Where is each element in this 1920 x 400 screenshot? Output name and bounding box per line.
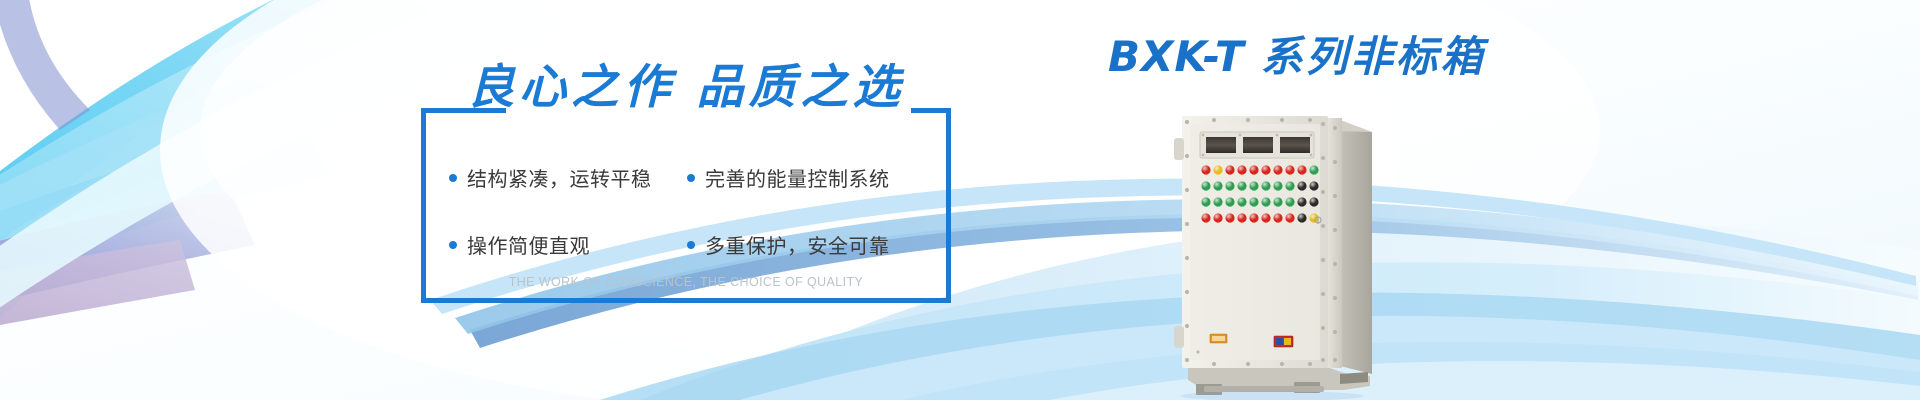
product-title: BXK-T系列非标箱: [1108, 36, 1486, 78]
product-model: BXK-T: [1108, 32, 1245, 81]
meter-display-3: [1280, 137, 1310, 153]
bullet-label: 完善的能量控制系统: [705, 163, 890, 192]
headline-slogan: 良心之作 品质之选: [453, 64, 918, 111]
bullet-label: 操作简便直观: [467, 230, 590, 259]
feature-panel: 良心之作 品质之选 结构紧凑，运转平稳 完善的能量控制系统 操作简便直观 多重保…: [421, 108, 951, 303]
bullet-dot-icon: [687, 241, 695, 249]
cabinet-hinge-bottom: [1174, 326, 1184, 348]
door-fitting: [1196, 350, 1199, 353]
meter-display-1: [1206, 137, 1236, 153]
english-subtitle: THE WORK OF CONSCIENCE, THE CHOICE OF QU…: [421, 275, 951, 289]
list-item: 结构紧凑，运转平稳: [449, 163, 687, 192]
nameplate-certification: [1274, 336, 1293, 347]
panel-frame-left: [421, 108, 426, 303]
list-item: 多重保护，安全可靠: [687, 230, 929, 259]
bullet-label: 结构紧凑，运转平稳: [467, 163, 652, 192]
panel-frame-right: [946, 108, 951, 303]
cabinet-side-panel: [1340, 120, 1372, 374]
meter-display-2: [1243, 137, 1273, 153]
list-item: 操作简便直观: [449, 230, 687, 259]
bullet-dot-icon: [687, 174, 695, 182]
meter-window-assembly: [1200, 132, 1314, 158]
product-image-cabinet: [1144, 98, 1404, 400]
bullet-dot-icon: [449, 174, 457, 182]
cabinet-foot-rear: [1340, 372, 1368, 384]
promo-banner: 良心之作 品质之选 结构紧凑，运转平稳 完善的能量控制系统 操作简便直观 多重保…: [0, 0, 1920, 400]
product-series: 系列非标箱: [1261, 32, 1486, 81]
feature-bullet-list: 结构紧凑，运转平稳 完善的能量控制系统 操作简便直观 多重保护，安全可靠: [449, 163, 929, 259]
bullet-dot-icon: [449, 241, 457, 249]
cabinet-hinge-top: [1174, 138, 1184, 160]
bullet-label: 多重保护，安全可靠: [705, 230, 890, 259]
nameplate-ex: [1210, 334, 1227, 343]
panel-frame-bottom: [421, 298, 951, 303]
background-artwork: [0, 0, 1920, 400]
cabinet-door-inner: [1190, 124, 1320, 360]
list-item: 完善的能量控制系统: [687, 163, 929, 192]
